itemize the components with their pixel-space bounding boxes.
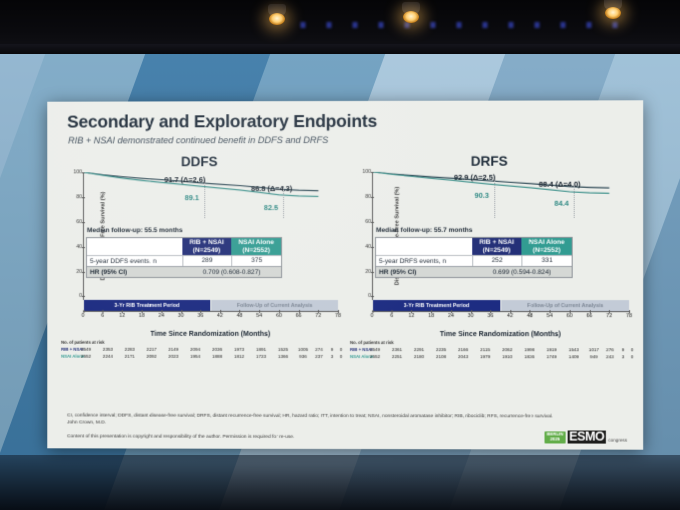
risk-value: 1017	[589, 347, 599, 352]
summary-table-ddfs: RIB + NSAI (N=2549) NSAI Alone (N=2552) …	[86, 237, 282, 278]
x-tick: 54	[547, 313, 553, 319]
risk-value: 1888	[212, 354, 222, 359]
risk-value: 2094	[190, 347, 200, 352]
chart-title-ddfs: DDFS	[61, 154, 338, 169]
table-row: HR (95% CI) 0.699 (0.594-0.824)	[376, 266, 572, 277]
x-axis-ddfs: 0 6 12 18 24 30 36 42 48 54 60 66 72 78	[83, 311, 338, 324]
events-nsai-alone: 375	[231, 256, 281, 266]
slide-footer: CI, confidence interval; DDFS, distant d…	[67, 412, 629, 441]
risk-value: 1525	[278, 347, 288, 352]
x-tick: 48	[527, 313, 533, 319]
x-tick: 60	[276, 313, 282, 319]
events-label: 5-year DDFS events, n	[87, 256, 182, 266]
x-tick: 72	[606, 313, 612, 319]
risk-value: 2036	[212, 347, 222, 352]
chart-panel-ddfs: DDFS Distant Disease-Free Survival (%) 1…	[61, 154, 338, 363]
projected-slide: Secondary and Exploratory Endpoints RIB …	[47, 100, 643, 449]
y-tick-60: 60	[70, 219, 82, 225]
charts-row: DDFS Distant Disease-Free Survival (%) 1…	[61, 154, 629, 364]
risk-value: 2217	[146, 347, 156, 352]
x-tick: 66	[586, 313, 592, 319]
risk-table-ddfs: No. of patients at risk RIB + NSAI 2549 …	[61, 341, 338, 363]
risk-value: 2092	[146, 354, 156, 359]
risk-value: 1954	[190, 354, 200, 359]
risk-value: 2235	[436, 347, 446, 352]
risk-value: 1749	[546, 354, 556, 359]
risk-value: 1998	[524, 347, 534, 352]
risk-table-header: No. of patients at risk	[61, 340, 104, 345]
median-followup-ddfs: Median follow-up: 55.5 months	[87, 227, 183, 234]
risk-value: 2171	[125, 354, 135, 359]
annotation-drfs-nsai-36: 90.3	[475, 191, 489, 200]
annotation-drfs-rib-60: 88.4 (Δ=4.0)	[539, 180, 581, 189]
x-tick: 0	[371, 313, 374, 319]
risk-value: 949	[590, 354, 598, 359]
x-tick: 6	[101, 313, 104, 319]
risk-value: 0	[340, 347, 343, 352]
x-tick: 66	[296, 313, 302, 319]
annotation-ddfs-nsai-60: 82.5	[264, 203, 278, 212]
x-tick: 24	[448, 313, 454, 319]
berlin-2025-badge: BERLIN 2025	[545, 431, 565, 443]
events-label: 5-year DRFS events, n	[376, 256, 472, 266]
risk-value: 1409	[569, 354, 579, 359]
x-tick: 36	[198, 313, 204, 319]
x-tick: 60	[566, 313, 572, 319]
risk-value: 274	[315, 347, 323, 352]
x-tick: 6	[390, 313, 393, 319]
x-axis-drfs: 0 6 12 18 24 30 36 42 48 54 60 66 72 78	[372, 311, 629, 324]
spotlight-icon	[264, 4, 290, 26]
esmo-congress-logo: BERLIN 2025 ESMO congress	[545, 430, 627, 443]
x-tick: 78	[335, 313, 341, 319]
reference-line-36mo	[494, 180, 495, 218]
reference-line-36mo	[204, 180, 205, 218]
table-col-nsai-alone: NSAI Alone (N=2552)	[231, 238, 281, 255]
hr-value: 0.709 (0.608-0.827)	[182, 267, 281, 277]
conference-stage-photo: Secondary and Exploratory Endpoints RIB …	[0, 0, 680, 510]
risk-value: 3	[331, 354, 334, 359]
risk-value: 2291	[414, 347, 424, 352]
spotlight-icon	[600, 0, 626, 20]
risk-value: 237	[315, 354, 323, 359]
x-axis-label-ddfs: Time Since Randomization (Months)	[83, 331, 338, 338]
y-tick-100: 100	[359, 169, 371, 175]
table-header-row: RIB + NSAI (N=2549) NSAI Alone (N=2552)	[87, 238, 281, 255]
x-tick: 30	[468, 313, 474, 319]
presenter-name: John Crown, M.D.	[67, 420, 629, 429]
risk-value: 276	[606, 347, 614, 352]
foreground-shadow	[0, 455, 680, 510]
risk-row-nsai-alone: NSAI Alone 2552 2251 2180 2108 2043 1979…	[350, 354, 629, 361]
risk-value: 1979	[480, 354, 490, 359]
risk-value: 2283	[125, 347, 135, 352]
x-tick: 12	[408, 313, 414, 319]
spotlight-icon	[398, 2, 424, 24]
survival-curves-ddfs	[84, 172, 338, 300]
slide-title: Secondary and Exploratory Endpoints	[67, 110, 629, 132]
chart-title-drfs: DRFS	[350, 154, 629, 169]
risk-value: 0	[340, 354, 343, 359]
median-followup-drfs: Median follow-up: 55.7 months	[376, 227, 473, 234]
events-rib-nsai: 289	[182, 256, 232, 266]
y-tick-80: 80	[70, 194, 82, 200]
risk-value: 2251	[392, 354, 402, 359]
y-tick-0: 0	[70, 293, 82, 299]
table-col-nsai-alone: NSAI Alone (N=2552)	[522, 238, 572, 255]
risk-table-drfs: No. of patients at risk RIB + NSAI 2549 …	[350, 341, 629, 363]
table-row: HR (95% CI) 0.709 (0.608-0.827)	[87, 266, 281, 277]
risk-value: 243	[606, 354, 614, 359]
risk-value: 2043	[458, 354, 468, 359]
hr-label: HR (95% CI)	[376, 267, 472, 277]
y-tick-100: 100	[70, 169, 82, 175]
plot-area-drfs: Distant Recurrence-Free Survival (%) 100…	[372, 172, 629, 301]
risk-value: 1919	[546, 347, 556, 352]
hr-value: 0.699 (0.594-0.824)	[472, 267, 571, 277]
risk-value: 936	[299, 354, 307, 359]
annotation-ddfs-rib-60: 86.8 (Δ=4.3)	[251, 184, 292, 193]
risk-value: 2166	[458, 347, 468, 352]
y-tick-0: 0	[359, 293, 371, 299]
ceiling-led-strip	[290, 22, 630, 28]
y-tick-40: 40	[359, 244, 371, 250]
x-tick: 78	[626, 313, 632, 319]
annotation-drfs-rib-36: 92.9 (Δ=2.5)	[454, 173, 495, 182]
annotation-ddfs-rib-36: 91.7 (Δ=2.6)	[164, 175, 205, 184]
x-tick: 48	[237, 313, 243, 319]
risk-value: 0	[631, 354, 634, 359]
risk-value: 9	[331, 347, 334, 352]
esmo-wordmark: ESMO	[567, 430, 606, 443]
risk-value: 1366	[278, 354, 288, 359]
x-tick: 18	[428, 313, 434, 319]
risk-value: 3	[622, 354, 625, 359]
x-tick: 24	[158, 313, 164, 319]
risk-value: 2361	[392, 347, 402, 352]
annotation-ddfs-nsai-36: 89.1	[185, 193, 199, 202]
table-col-rib-nsai: RIB + NSAI (N=2549)	[182, 238, 232, 255]
risk-value: 2062	[502, 347, 512, 352]
risk-value: 2353	[103, 347, 113, 352]
risk-value: 2549	[370, 347, 380, 352]
x-tick: 36	[488, 313, 494, 319]
summary-table-drfs: RIB + NSAI (N=2549) NSAI Alone (N=2552) …	[375, 237, 573, 278]
annotation-drfs-nsai-60: 84.4	[554, 199, 568, 208]
table-row: 5-year DDFS events, n 289 375	[87, 255, 281, 266]
risk-value: 2023	[168, 354, 178, 359]
risk-value: 1836	[524, 354, 534, 359]
table-row: 5-year DRFS events, n 252 331	[376, 255, 572, 266]
risk-value: 1973	[234, 347, 244, 352]
risk-row-nsai-alone: NSAI Alone 2552 2244 2171 2092 2023 1954…	[61, 354, 338, 361]
risk-value: 1812	[234, 354, 244, 359]
chart-panel-drfs: DRFS Distant Recurrence-Free Survival (%…	[350, 154, 629, 364]
x-tick: 18	[139, 313, 145, 319]
risk-table-header: No. of patients at risk	[350, 340, 394, 345]
plot-area-ddfs: Distant Disease-Free Survival (%) 100 80…	[83, 172, 338, 300]
y-tick-20: 20	[359, 269, 371, 275]
table-col-rib-nsai: RIB + NSAI (N=2549)	[472, 238, 522, 255]
y-tick-80: 80	[359, 194, 371, 200]
risk-value: 1723	[256, 354, 266, 359]
risk-value: 2552	[81, 354, 91, 359]
events-nsai-alone: 331	[522, 256, 572, 266]
ceiling-edge	[0, 44, 680, 54]
events-rib-nsai: 252	[472, 256, 522, 266]
risk-value: 1891	[256, 347, 266, 352]
table-header-blank	[376, 238, 472, 255]
x-axis-label-drfs: Time Since Randomization (Months)	[372, 331, 629, 338]
y-tick-20: 20	[70, 269, 82, 275]
table-header-row: RIB + NSAI (N=2549) NSAI Alone (N=2552)	[376, 238, 572, 255]
risk-value: 2180	[414, 354, 424, 359]
slide-subtitle: RIB + NSAI demonstrated continued benefi…	[68, 134, 629, 145]
risk-value: 0	[631, 347, 634, 352]
x-tick: 42	[507, 313, 513, 319]
y-tick-60: 60	[359, 219, 371, 225]
x-tick: 42	[217, 313, 223, 319]
x-tick: 72	[315, 313, 321, 319]
risk-value: 1910	[502, 354, 512, 359]
x-tick: 12	[119, 313, 125, 319]
table-header-blank	[87, 238, 182, 255]
x-tick: 0	[81, 313, 84, 319]
x-tick: 30	[178, 313, 184, 319]
risk-value: 1543	[569, 347, 579, 352]
congress-label: congress	[608, 438, 627, 444]
risk-value: 2244	[103, 354, 113, 359]
risk-value: 2149	[168, 347, 178, 352]
hr-label: HR (95% CI)	[87, 267, 182, 277]
y-tick-40: 40	[70, 244, 82, 250]
risk-value: 1005	[298, 347, 308, 352]
abbreviations-footnote: CI, confidence interval; DDFS, distant d…	[67, 412, 629, 420]
risk-value: 2108	[436, 354, 446, 359]
risk-value: 9	[622, 347, 625, 352]
survival-curves-drfs	[373, 172, 629, 301]
reference-line-60mo	[574, 186, 575, 218]
risk-value: 2115	[480, 347, 490, 352]
x-tick: 54	[256, 313, 262, 319]
risk-value: 2549	[81, 347, 91, 352]
risk-value: 2552	[370, 354, 380, 359]
